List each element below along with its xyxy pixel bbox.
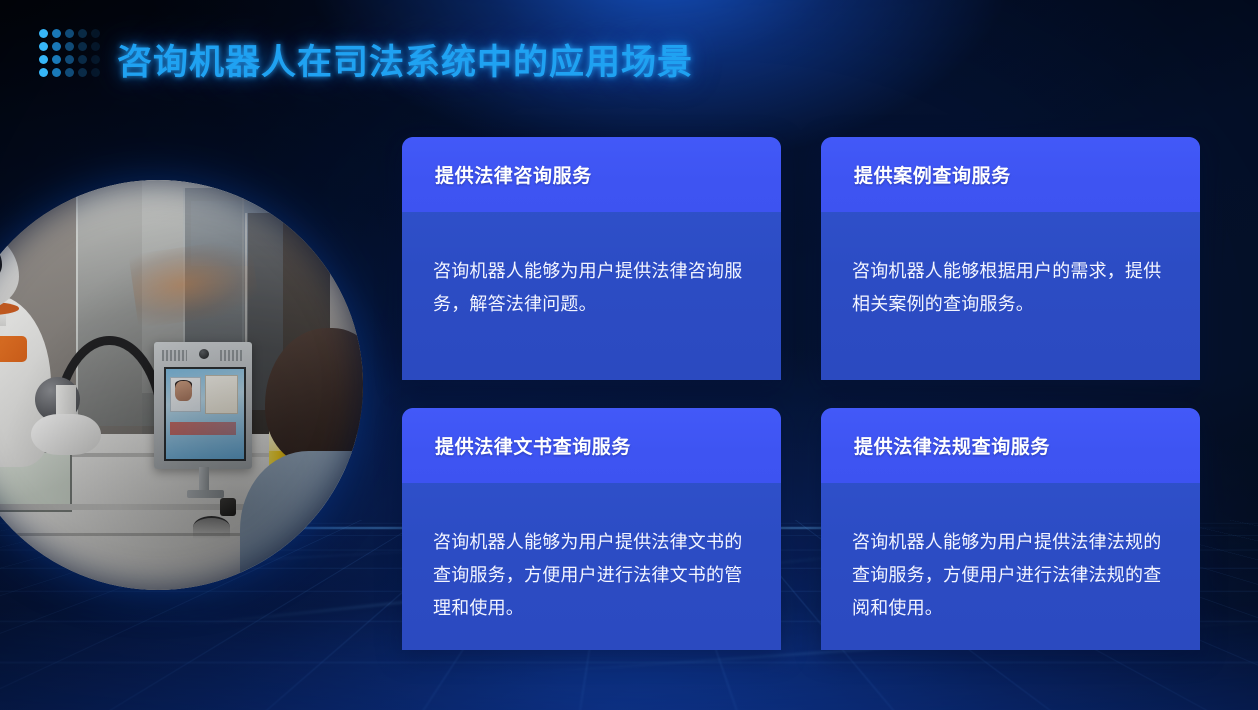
card-description: 咨询机器人能够根据用户的需求，提供相关案例的查询服务。 [852, 255, 1170, 321]
card-title: 提供法律咨询服务 [435, 161, 592, 188]
content-card[interactable]: 提供法律文书查询服务 咨询机器人能够为用户提供法律文书的查询服务，方便用户进行法… [402, 408, 781, 650]
card-description: 咨询机器人能够为用户提供法律文书的查询服务，方便用户进行法律文书的管理和使用。 [433, 526, 751, 625]
card-header: 提供法律文书查询服务 [402, 408, 781, 483]
card-title: 提供案例查询服务 [854, 161, 1011, 188]
card-title: 提供法律法规查询服务 [854, 432, 1050, 459]
card-body: 咨询机器人能够为用户提供法律文书的查询服务，方便用户进行法律文书的管理和使用。 [402, 483, 781, 625]
card-body: 咨询机器人能够为用户提供法律法规的查询服务，方便用户进行法律法规的查阅和使用。 [821, 483, 1200, 625]
robot-service-photo [0, 180, 363, 590]
page-title: 咨询机器人在司法系统中的应用场景 [117, 34, 693, 85]
card-description: 咨询机器人能够为用户提供法律咨询服务，解答法律问题。 [433, 255, 751, 321]
content-card[interactable]: 提供法律咨询服务 咨询机器人能够为用户提供法律咨询服务，解答法律问题。 [402, 137, 781, 380]
card-description: 咨询机器人能够为用户提供法律法规的查询服务，方便用户进行法律法规的查阅和使用。 [852, 526, 1170, 625]
card-body: 咨询机器人能够根据用户的需求，提供相关案例的查询服务。 [821, 212, 1200, 321]
content-card[interactable]: 提供法律法规查询服务 咨询机器人能够为用户提供法律法规的查询服务，方便用户进行法… [821, 408, 1200, 650]
dot-grid-icon [39, 29, 104, 81]
card-header: 提供法律咨询服务 [402, 137, 781, 212]
slide-canvas: 咨询机器人在司法系统中的应用场景 [0, 0, 1258, 710]
slide-header: 咨询机器人在司法系统中的应用场景 [0, 0, 1258, 112]
card-header: 提供案例查询服务 [821, 137, 1200, 212]
card-body: 咨询机器人能够为用户提供法律咨询服务，解答法律问题。 [402, 212, 781, 321]
card-header: 提供法律法规查询服务 [821, 408, 1200, 483]
content-card[interactable]: 提供案例查询服务 咨询机器人能够根据用户的需求，提供相关案例的查询服务。 [821, 137, 1200, 380]
card-title: 提供法律文书查询服务 [435, 432, 631, 459]
